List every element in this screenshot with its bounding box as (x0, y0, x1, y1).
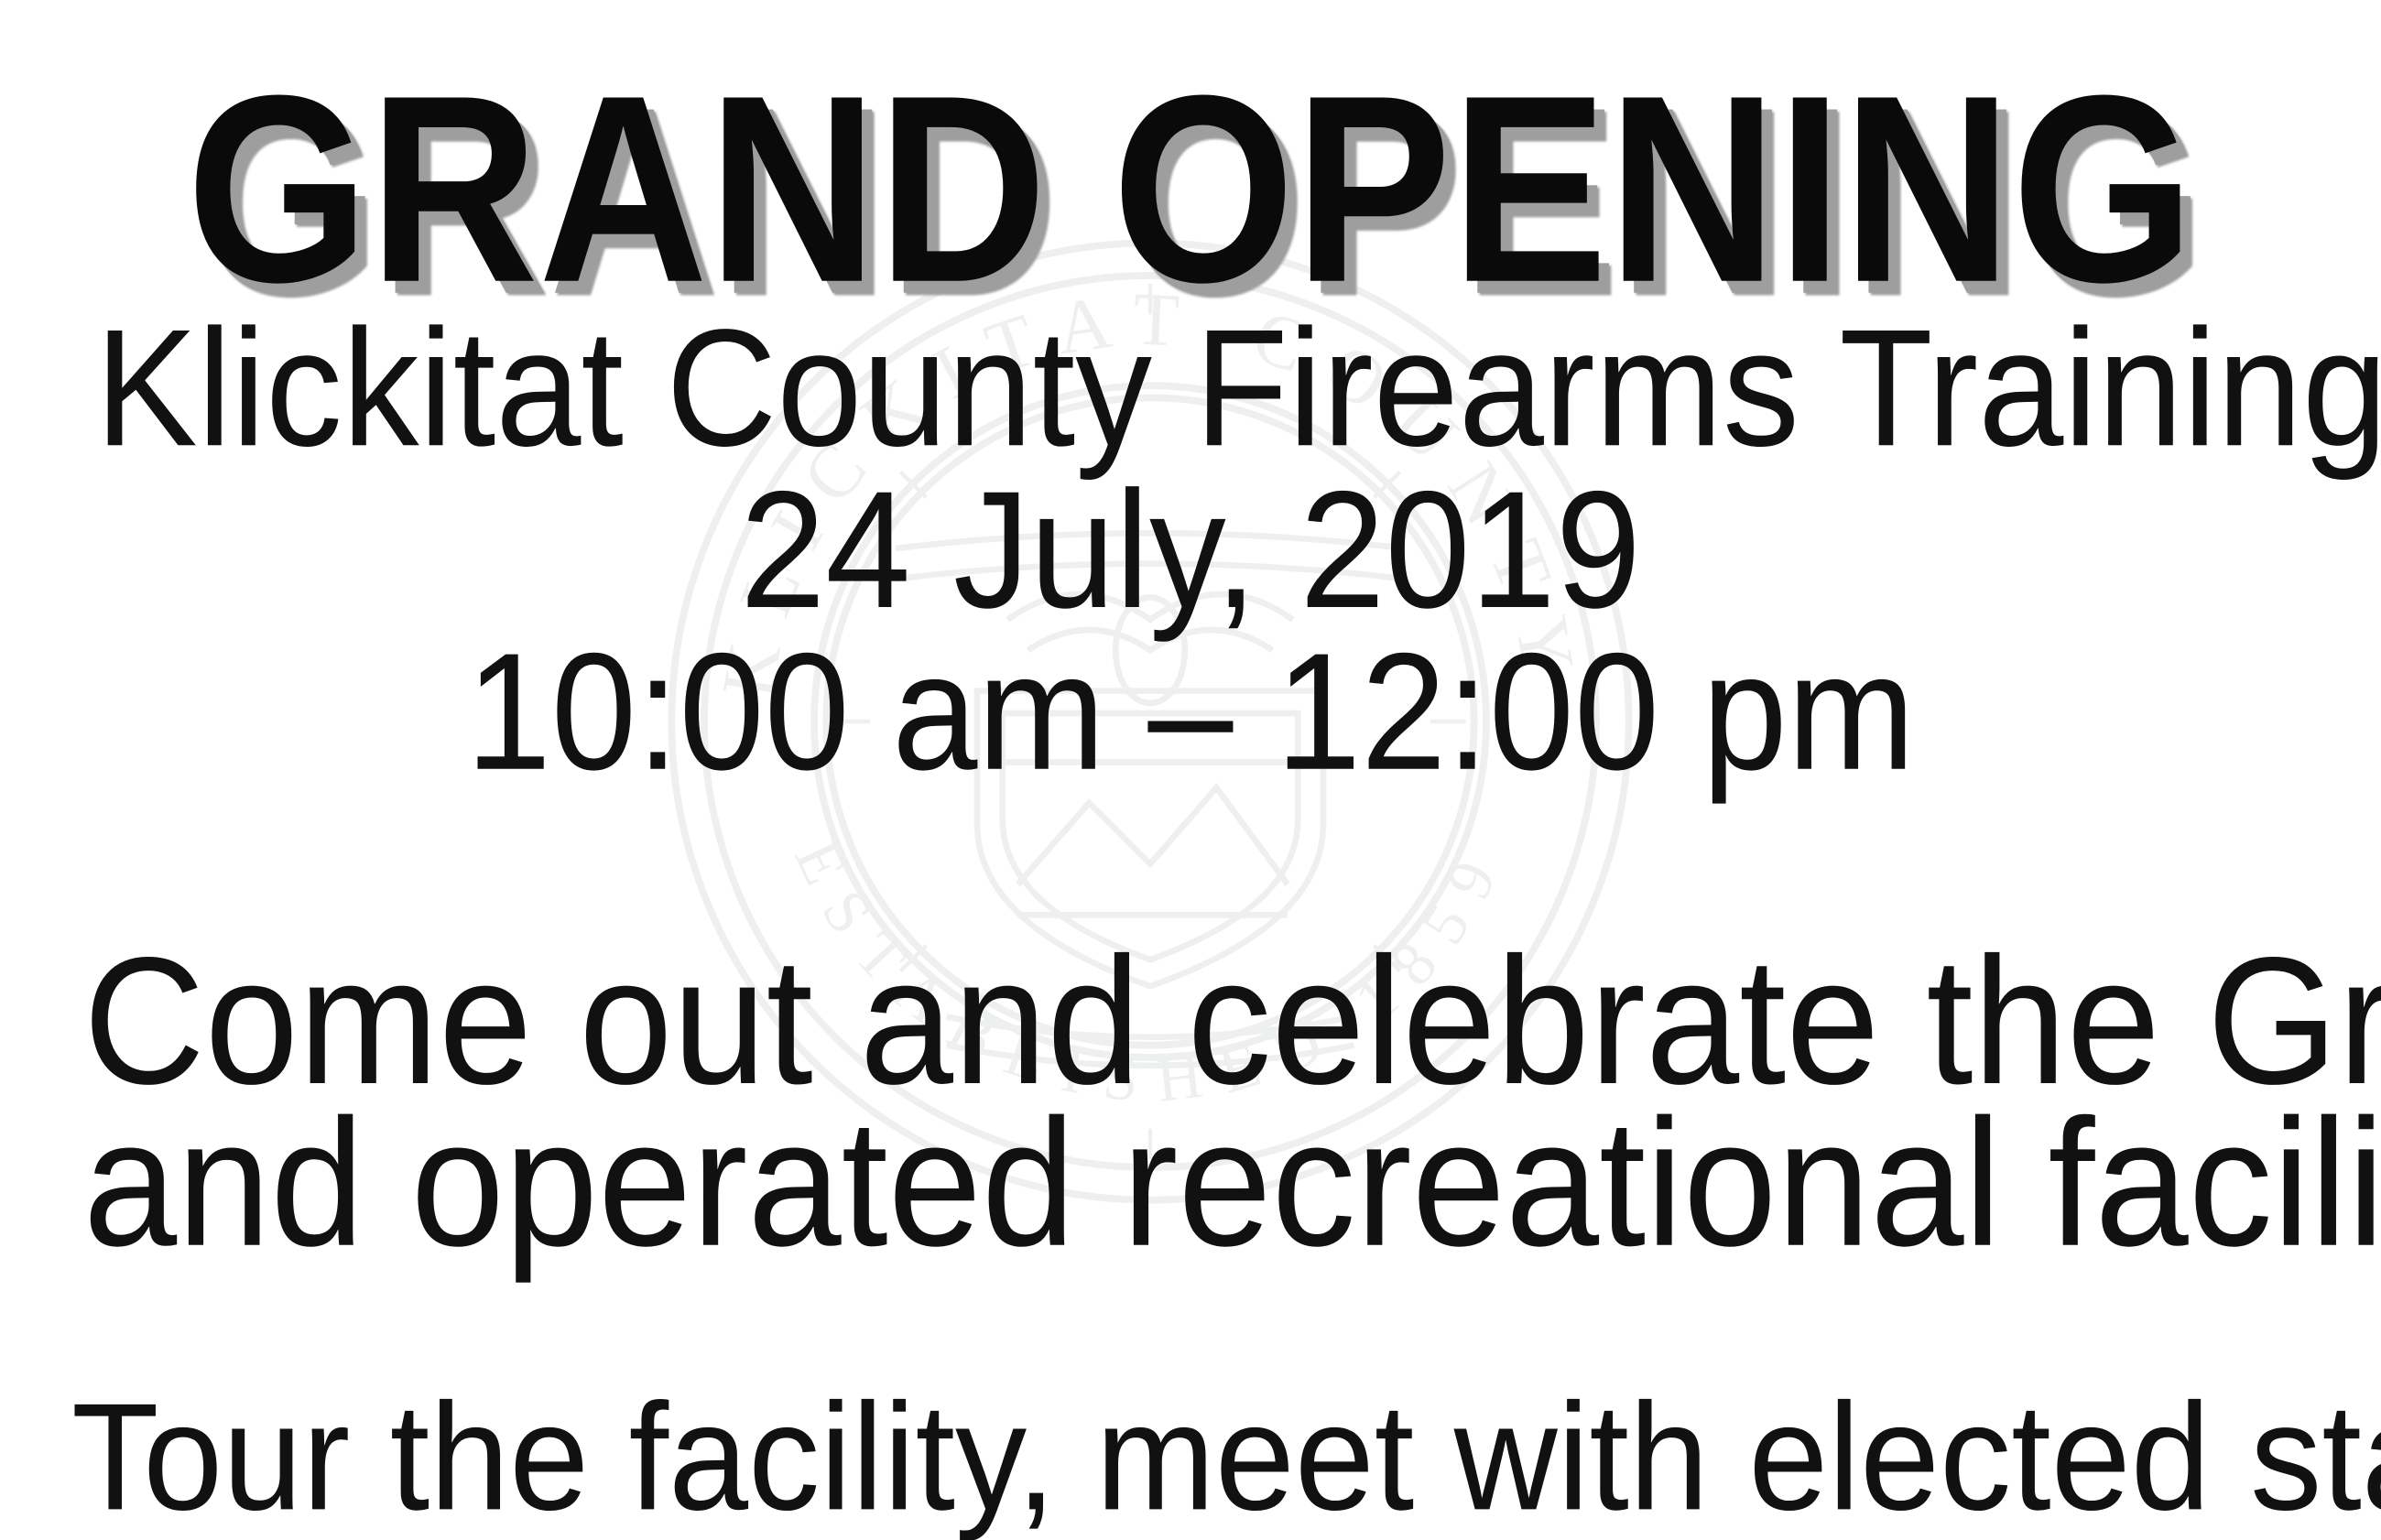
page-title: GRAND OPENING (143, 57, 2238, 323)
flyer-canvas: KLICKITAT COUNTY ESTABLISHED 1859 (0, 0, 2381, 1540)
event-time: 10:00 am – 12:00 pm (95, 628, 2286, 795)
tour-invitation-line: Tour the facility, meet with elected sta… (71, 1381, 2310, 1533)
body-paragraph-line-2: and operated recreational facility. (83, 1095, 2298, 1276)
event-venue: Klickitat County Firearms Training Facil… (95, 305, 2286, 472)
flyer-text-content: GRAND OPENING Klickitat County Firearms … (0, 0, 2381, 1540)
event-date: 24 July, 2019 (95, 467, 2286, 634)
